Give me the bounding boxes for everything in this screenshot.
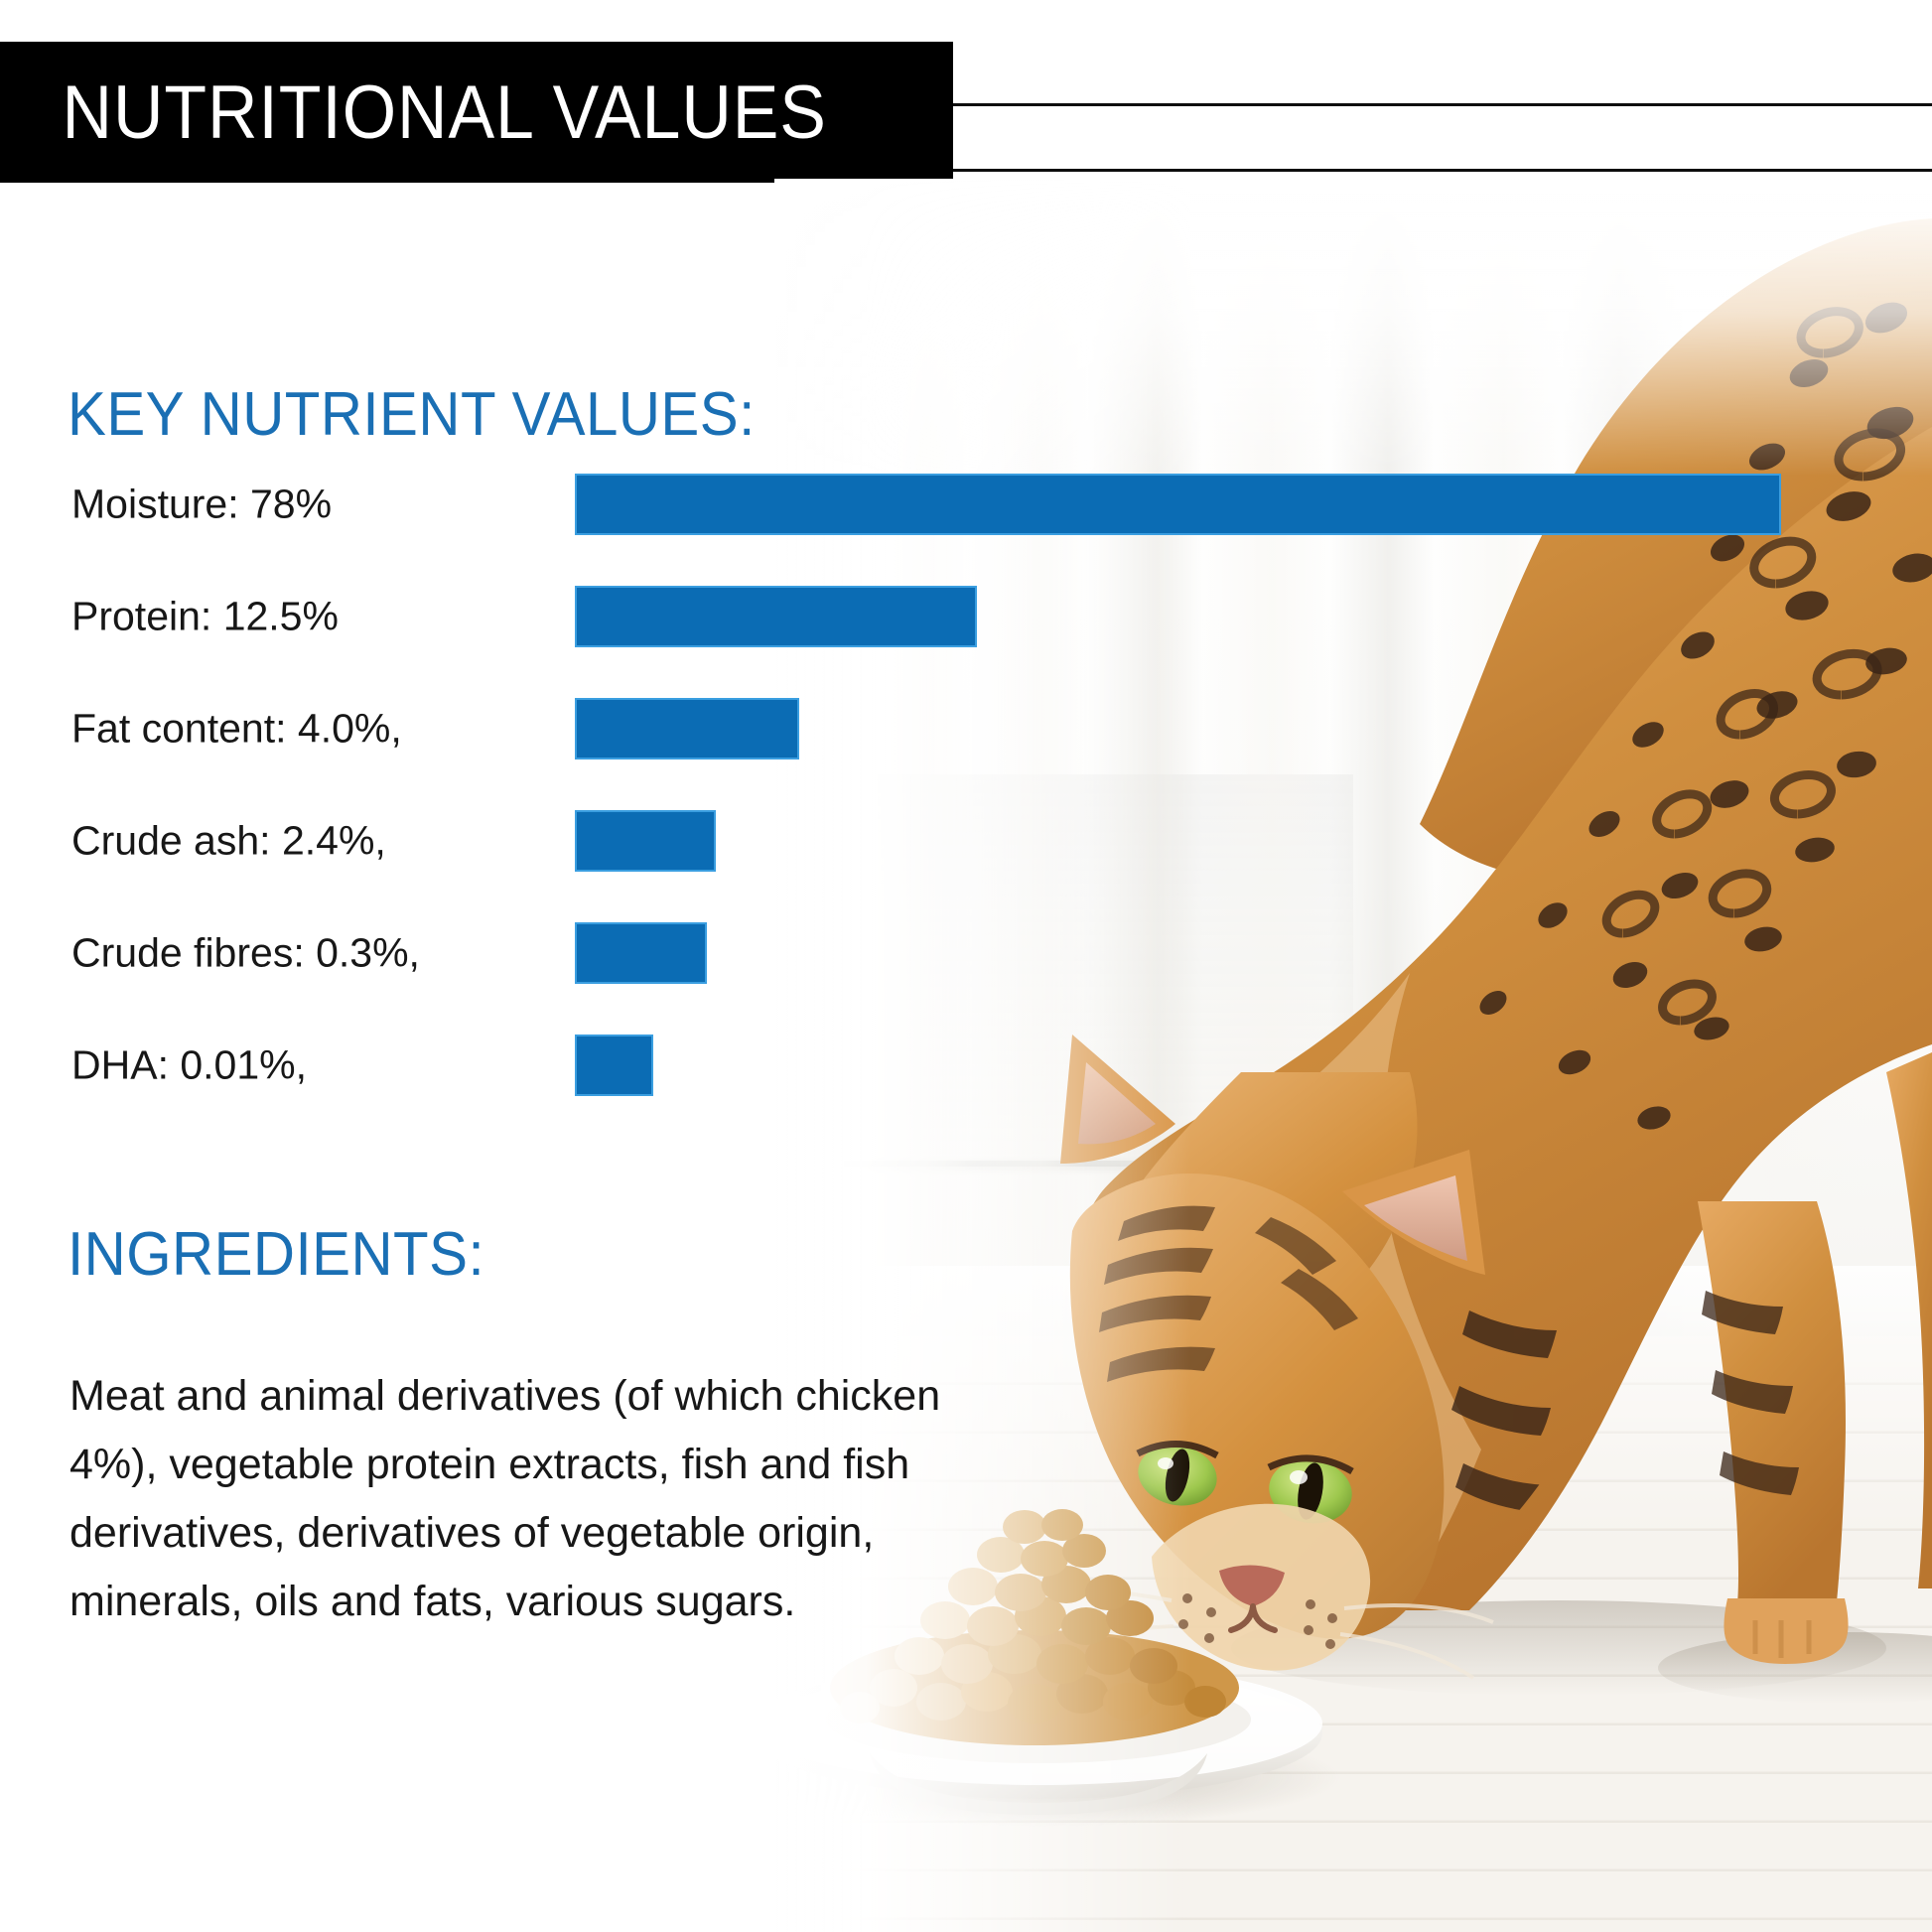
- key-nutrient-values-heading: KEY NUTRIENT VALUES:: [68, 379, 756, 450]
- header-rule-top: [933, 103, 1932, 106]
- bar-track-moisture: [576, 475, 1780, 534]
- photo-top-fade: [774, 179, 1932, 477]
- bar-track-dha: [576, 1035, 652, 1095]
- ingredients-text: Meat and animal derivatives (of which ch…: [69, 1362, 963, 1636]
- bar-label-crude-fibres: Crude fibres: 0.3%,: [71, 930, 420, 977]
- infographic-page: NUTRITIONAL VALUES KEY NUTRIENT VALUES: …: [0, 0, 1932, 1932]
- bar-fill-crude-fibres: [576, 923, 706, 983]
- bar-track-fat-content: [576, 699, 798, 759]
- table-row: Fat content: 4.0%,: [0, 699, 1932, 759]
- table-row: Moisture: 78%: [0, 475, 1932, 534]
- ingredients-heading: INGREDIENTS:: [68, 1219, 484, 1290]
- bar-label-moisture: Moisture: 78%: [71, 482, 332, 528]
- bar-track-crude-ash: [576, 811, 715, 871]
- bar-fill-moisture: [576, 475, 1780, 534]
- table-row: Crude ash: 2.4%,: [0, 811, 1932, 871]
- header-rule-bottom: [933, 169, 1932, 172]
- table-row: DHA: 0.01%,: [0, 1035, 1932, 1095]
- bar-fill-fat-content: [576, 699, 798, 759]
- bar-track-crude-fibres: [576, 923, 706, 983]
- bar-fill-crude-ash: [576, 811, 715, 871]
- header-title-box: NUTRITIONAL VALUES: [0, 42, 953, 183]
- table-row: Protein: 12.5%: [0, 587, 1932, 646]
- bar-track-protein: [576, 587, 976, 646]
- bar-label-fat-content: Fat content: 4.0%,: [71, 706, 402, 753]
- bar-label-protein: Protein: 12.5%: [71, 594, 339, 640]
- nutrient-bar-chart: Moisture: 78% Protein: 12.5% Fat content…: [0, 475, 1932, 1148]
- table-row: Crude fibres: 0.3%,: [0, 923, 1932, 983]
- bar-fill-dha: [576, 1035, 652, 1095]
- bar-label-crude-ash: Crude ash: 2.4%,: [71, 818, 386, 865]
- bar-label-dha: DHA: 0.01%,: [71, 1042, 307, 1089]
- bar-fill-protein: [576, 587, 976, 646]
- page-title: NUTRITIONAL VALUES: [0, 69, 827, 156]
